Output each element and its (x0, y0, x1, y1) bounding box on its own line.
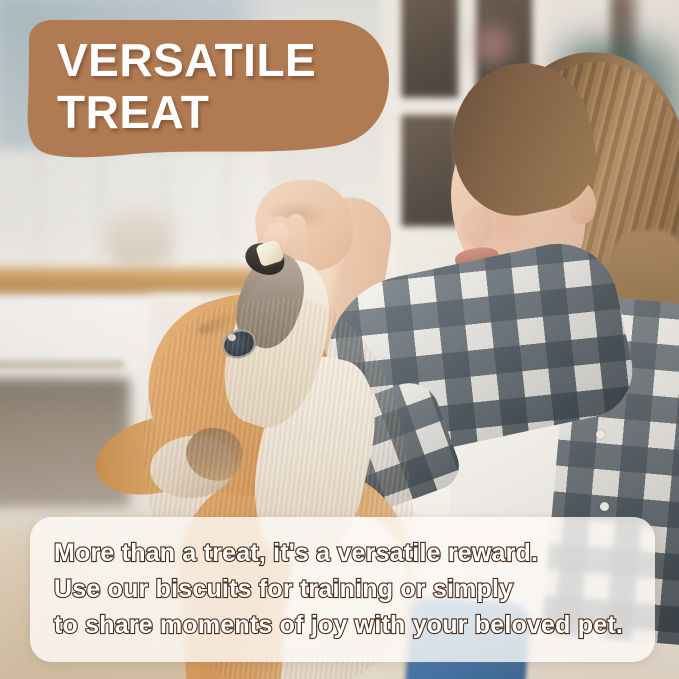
product-banner: VERSATILE TREAT More than a treat, it's … (0, 0, 679, 679)
panel-line-2: Use our biscuits for training or simply (54, 571, 643, 607)
badge-line-2: TREAT (57, 86, 367, 138)
badge-line-1: VERSATILE (57, 34, 367, 86)
title-badge: VERSATILE TREAT (13, 18, 391, 160)
bottom-text-panel: More than a treat, it's a versatile rewa… (30, 517, 655, 662)
badge-text-block: VERSATILE TREAT (57, 34, 367, 138)
panel-text-block: More than a treat, it's a versatile rewa… (54, 535, 643, 643)
panel-line-1: More than a treat, it's a versatile rewa… (54, 535, 643, 571)
panel-line-3: to share moments of joy with your belove… (54, 607, 643, 643)
dog-eye-highlight (228, 334, 236, 341)
